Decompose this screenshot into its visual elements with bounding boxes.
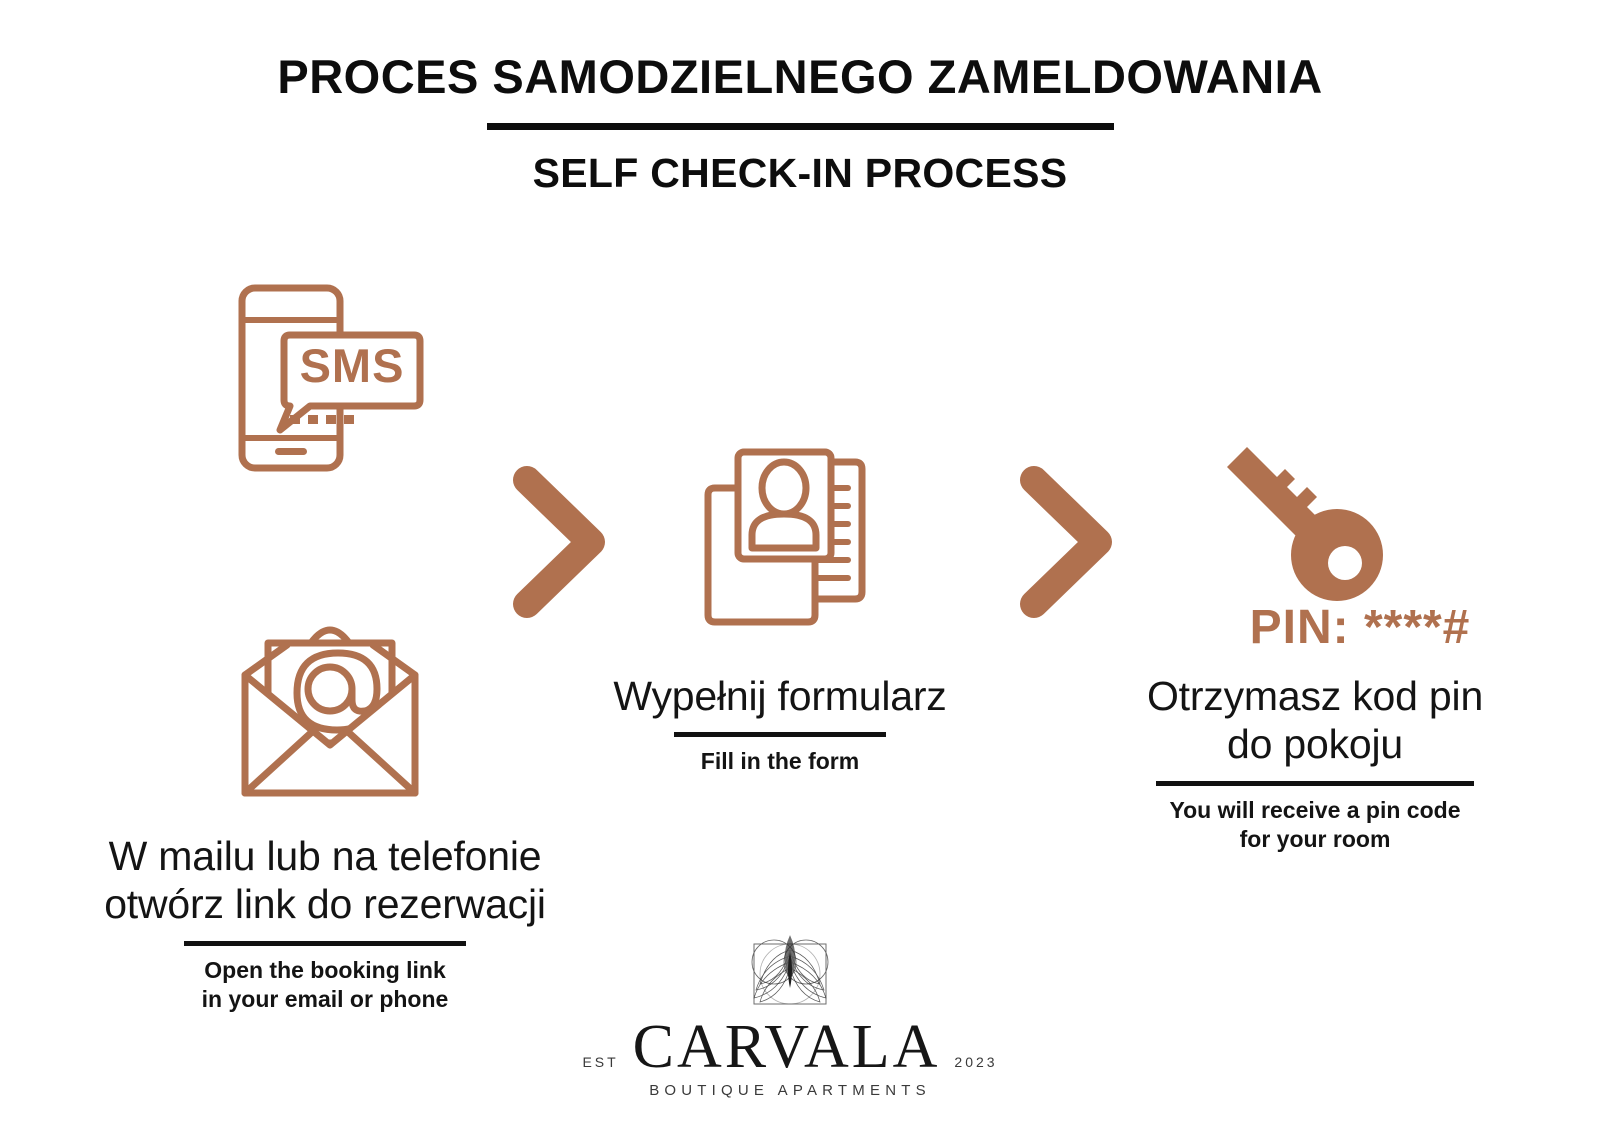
step-1-caption-pl-line1: W mailu lub na telefonie xyxy=(30,832,620,880)
brand-logo: EST CARVALA 2023 BOUTIQUE APARTMENTS xyxy=(560,922,1020,1099)
step-3-divider xyxy=(1156,781,1474,786)
infographic-poster: PROCES SAMODZIELNEGO ZAMELDOWANIA SELF C… xyxy=(0,0,1600,1131)
logo-subtitle: BOUTIQUE APARTMENTS xyxy=(560,1082,1020,1099)
step-1-caption-en-line2: in your email or phone xyxy=(30,985,620,1014)
key-icon xyxy=(1215,435,1405,620)
form-documents-icon xyxy=(690,440,880,635)
logo-year: 2023 xyxy=(954,1054,997,1070)
step-2-divider xyxy=(674,732,886,737)
pin-code-label: PIN: ****# xyxy=(1150,600,1570,655)
step-3-caption-en-line2: for your room xyxy=(1105,825,1525,854)
email-envelope-icon xyxy=(225,603,435,808)
sms-text: SMS xyxy=(300,339,405,392)
sms-phone-icon: SMS xyxy=(228,278,428,483)
poster-header: PROCES SAMODZIELNEGO ZAMELDOWANIA SELF C… xyxy=(0,52,1600,197)
step-3-caption-pl-line1: Otrzymasz kod pin xyxy=(1105,672,1525,720)
step-1-caption-en-line1: Open the booking link xyxy=(30,956,620,985)
logo-est: EST xyxy=(582,1054,618,1070)
page-title-en: SELF CHECK-IN PROCESS xyxy=(0,150,1600,197)
step-1-caption: W mailu lub na telefonie otwórz link do … xyxy=(30,832,620,1015)
page-title-pl: PROCES SAMODZIELNEGO ZAMELDOWANIA xyxy=(0,52,1600,101)
step-1-caption-pl-line2: otwórz link do rezerwacji xyxy=(30,880,620,928)
step-3-caption-en-line1: You will receive a pin code xyxy=(1105,796,1525,825)
chevron-right-icon xyxy=(505,462,615,627)
logo-wordmark: EST CARVALA 2023 xyxy=(560,1016,1020,1078)
step-2-caption-pl-line1: Wypełnij formularz xyxy=(575,672,985,720)
step-2-caption: Wypełnij formularz Fill in the form xyxy=(575,672,985,777)
logo-name: CARVALA xyxy=(633,1016,941,1078)
lotus-emblem-icon xyxy=(730,922,850,1014)
title-divider xyxy=(487,123,1114,130)
chevron-right-icon-2 xyxy=(1012,462,1122,627)
step-3-caption-pl-line2: do pokoju xyxy=(1105,720,1525,768)
step-2-caption-en-line1: Fill in the form xyxy=(575,747,985,776)
step-3-caption: Otrzymasz kod pin do pokoju You will rec… xyxy=(1105,672,1525,855)
step-1-divider xyxy=(184,941,466,946)
